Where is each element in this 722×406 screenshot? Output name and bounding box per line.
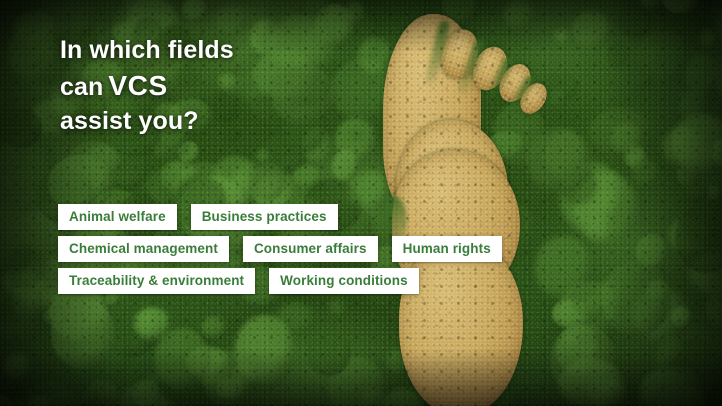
field-chip-row-2: Chemical management Consumer affairs Hum…: [58, 236, 618, 262]
headline-line-2-prefix: can: [60, 73, 103, 101]
chip-traceability-environment[interactable]: Traceability & environment: [58, 268, 255, 294]
chip-human-rights[interactable]: Human rights: [392, 236, 502, 262]
banner-image: In which fields canVCS assist you? Anima…: [0, 0, 722, 406]
headline-line-2: canVCS: [60, 72, 234, 100]
chip-business-practices[interactable]: Business practices: [191, 204, 338, 230]
field-chip-row-3: Traceability & environment Working condi…: [58, 268, 618, 294]
headline: In which fields canVCS assist you?: [60, 38, 234, 134]
chip-consumer-affairs[interactable]: Consumer affairs: [243, 236, 378, 262]
chip-working-conditions[interactable]: Working conditions: [269, 268, 419, 294]
brand-name-vcs: VCS: [108, 70, 167, 101]
headline-line-3: assist you?: [60, 109, 234, 134]
headline-line-1: In which fields: [60, 38, 234, 63]
field-chip-group: Animal welfare Business practices Chemic…: [58, 204, 618, 300]
field-chip-row-1: Animal welfare Business practices: [58, 204, 618, 230]
chip-animal-welfare[interactable]: Animal welfare: [58, 204, 177, 230]
chip-chemical-management[interactable]: Chemical management: [58, 236, 229, 262]
